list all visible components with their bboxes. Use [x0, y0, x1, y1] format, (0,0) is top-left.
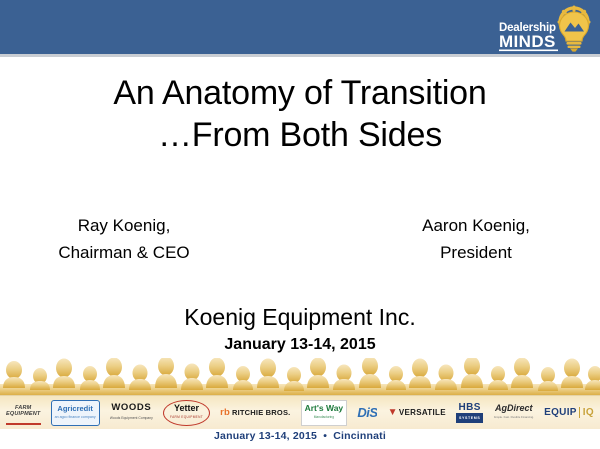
speaker-role: President	[352, 239, 600, 266]
presentation-slide: Dealership MINDS An Anatomy of Transitio…	[0, 0, 600, 449]
speaker-aaron-koenig: Aaron Koenig, President	[308, 212, 600, 266]
sponsor-text-line1: VERSATILE	[399, 408, 446, 417]
sponsor-text-mark: ▼	[388, 407, 398, 418]
sponsor-text-line1: Yetter	[174, 404, 199, 413]
sponsor-text-mark: rb	[220, 407, 230, 418]
sponsor-text-line1: EQUIP	[544, 407, 577, 418]
sponsor-logo-strip: FARM EQUIPMENT Agricredit an agco financ…	[0, 395, 600, 429]
logo-text-minds: MINDS	[499, 32, 556, 51]
title-line-2: …From Both Sides	[0, 114, 600, 156]
lightbulb-icon	[560, 12, 589, 52]
dealership-minds-logo-svg: Dealership MINDS	[496, 3, 592, 53]
sponsor-text-line1: RITCHIE BROS.	[232, 408, 290, 417]
page-title: An Anatomy of Transition …From Both Side…	[0, 72, 600, 156]
sponsor-text-line1: HBS	[459, 403, 481, 413]
company-block: Koenig Equipment Inc. January 13-14, 201…	[0, 302, 600, 356]
sponsor-text-line1: WOODS	[111, 403, 151, 413]
speaker-role: Chairman & CEO	[0, 239, 248, 266]
logo-underline	[499, 50, 558, 52]
company-date: January 13-14, 2015	[0, 334, 600, 356]
sponsor-logo-versatile[interactable]: ▼ VERSATILE	[388, 402, 446, 424]
event-caption: January 13-14, 2015 • Cincinnati	[0, 430, 600, 442]
sponsor-logo-yetter[interactable]: Yetter FARM EQUIPMENT	[163, 400, 210, 426]
speakers-row: Ray Koenig, Chairman & CEO Aaron Koenig,…	[0, 212, 600, 266]
event-caption-separator: •	[323, 430, 327, 442]
title-line-1: An Anatomy of Transition	[0, 72, 600, 114]
sponsor-text-line1: Agricredit	[57, 405, 92, 413]
sponsor-text-line2: IQ	[579, 407, 594, 418]
sponsor-logo-farm-equipment[interactable]: FARM EQUIPMENT	[6, 400, 41, 425]
sponsor-text-line1: Art's Way	[305, 404, 344, 413]
event-caption-location: Cincinnati	[333, 430, 386, 442]
company-name: Koenig Equipment Inc.	[0, 302, 600, 332]
sponsor-logo-agricredit[interactable]: Agricredit an agco finance company	[51, 400, 100, 426]
sponsor-logo-hbs-systems[interactable]: HBS SYSTEMS	[456, 402, 483, 424]
sponsor-text-sub: FARM EQUIPMENT	[170, 413, 203, 422]
header-divider-rule	[0, 54, 600, 57]
sponsor-text-sub: an agco finance company	[55, 413, 96, 421]
sponsor-text-sub: Manufacturing	[314, 413, 334, 422]
audience-silhouette-svg	[0, 358, 600, 396]
sponsor-logo-equip-iq[interactable]: EQUIP IQ	[544, 402, 594, 424]
event-caption-date: January 13-14, 2015	[214, 430, 317, 442]
sponsor-text-sub: Simple. Fast. Flexible Financing.	[494, 413, 534, 422]
speaker-name: Ray Koenig,	[0, 212, 248, 239]
sponsor-text-sub: SYSTEMS	[456, 413, 483, 423]
sponsor-text-sub: Woods Equipment Company	[110, 413, 153, 423]
sponsor-text-line1: AgDirect	[495, 404, 533, 413]
sponsor-logo-dis[interactable]: DiS	[357, 402, 377, 424]
sponsor-text-line2: EQUIPMENT	[6, 411, 41, 418]
sponsor-logo-arts-way[interactable]: Art's Way Manufacturing	[301, 400, 348, 426]
sponsor-logo-ritchie-bros[interactable]: rb RITCHIE BROS.	[220, 402, 290, 424]
sponsor-text-line1: DiS	[357, 405, 377, 420]
sponsor-logo-agdirect[interactable]: AgDirect Simple. Fast. Flexible Financin…	[494, 402, 534, 424]
sponsor-logo-woods[interactable]: WOODS Woods Equipment Company	[110, 402, 153, 424]
speaker-name: Aaron Koenig,	[352, 212, 600, 239]
dealership-minds-logo: Dealership MINDS	[496, 3, 592, 53]
audience-silhouette-band	[0, 358, 600, 396]
speaker-ray-koenig: Ray Koenig, Chairman & CEO	[0, 212, 308, 266]
